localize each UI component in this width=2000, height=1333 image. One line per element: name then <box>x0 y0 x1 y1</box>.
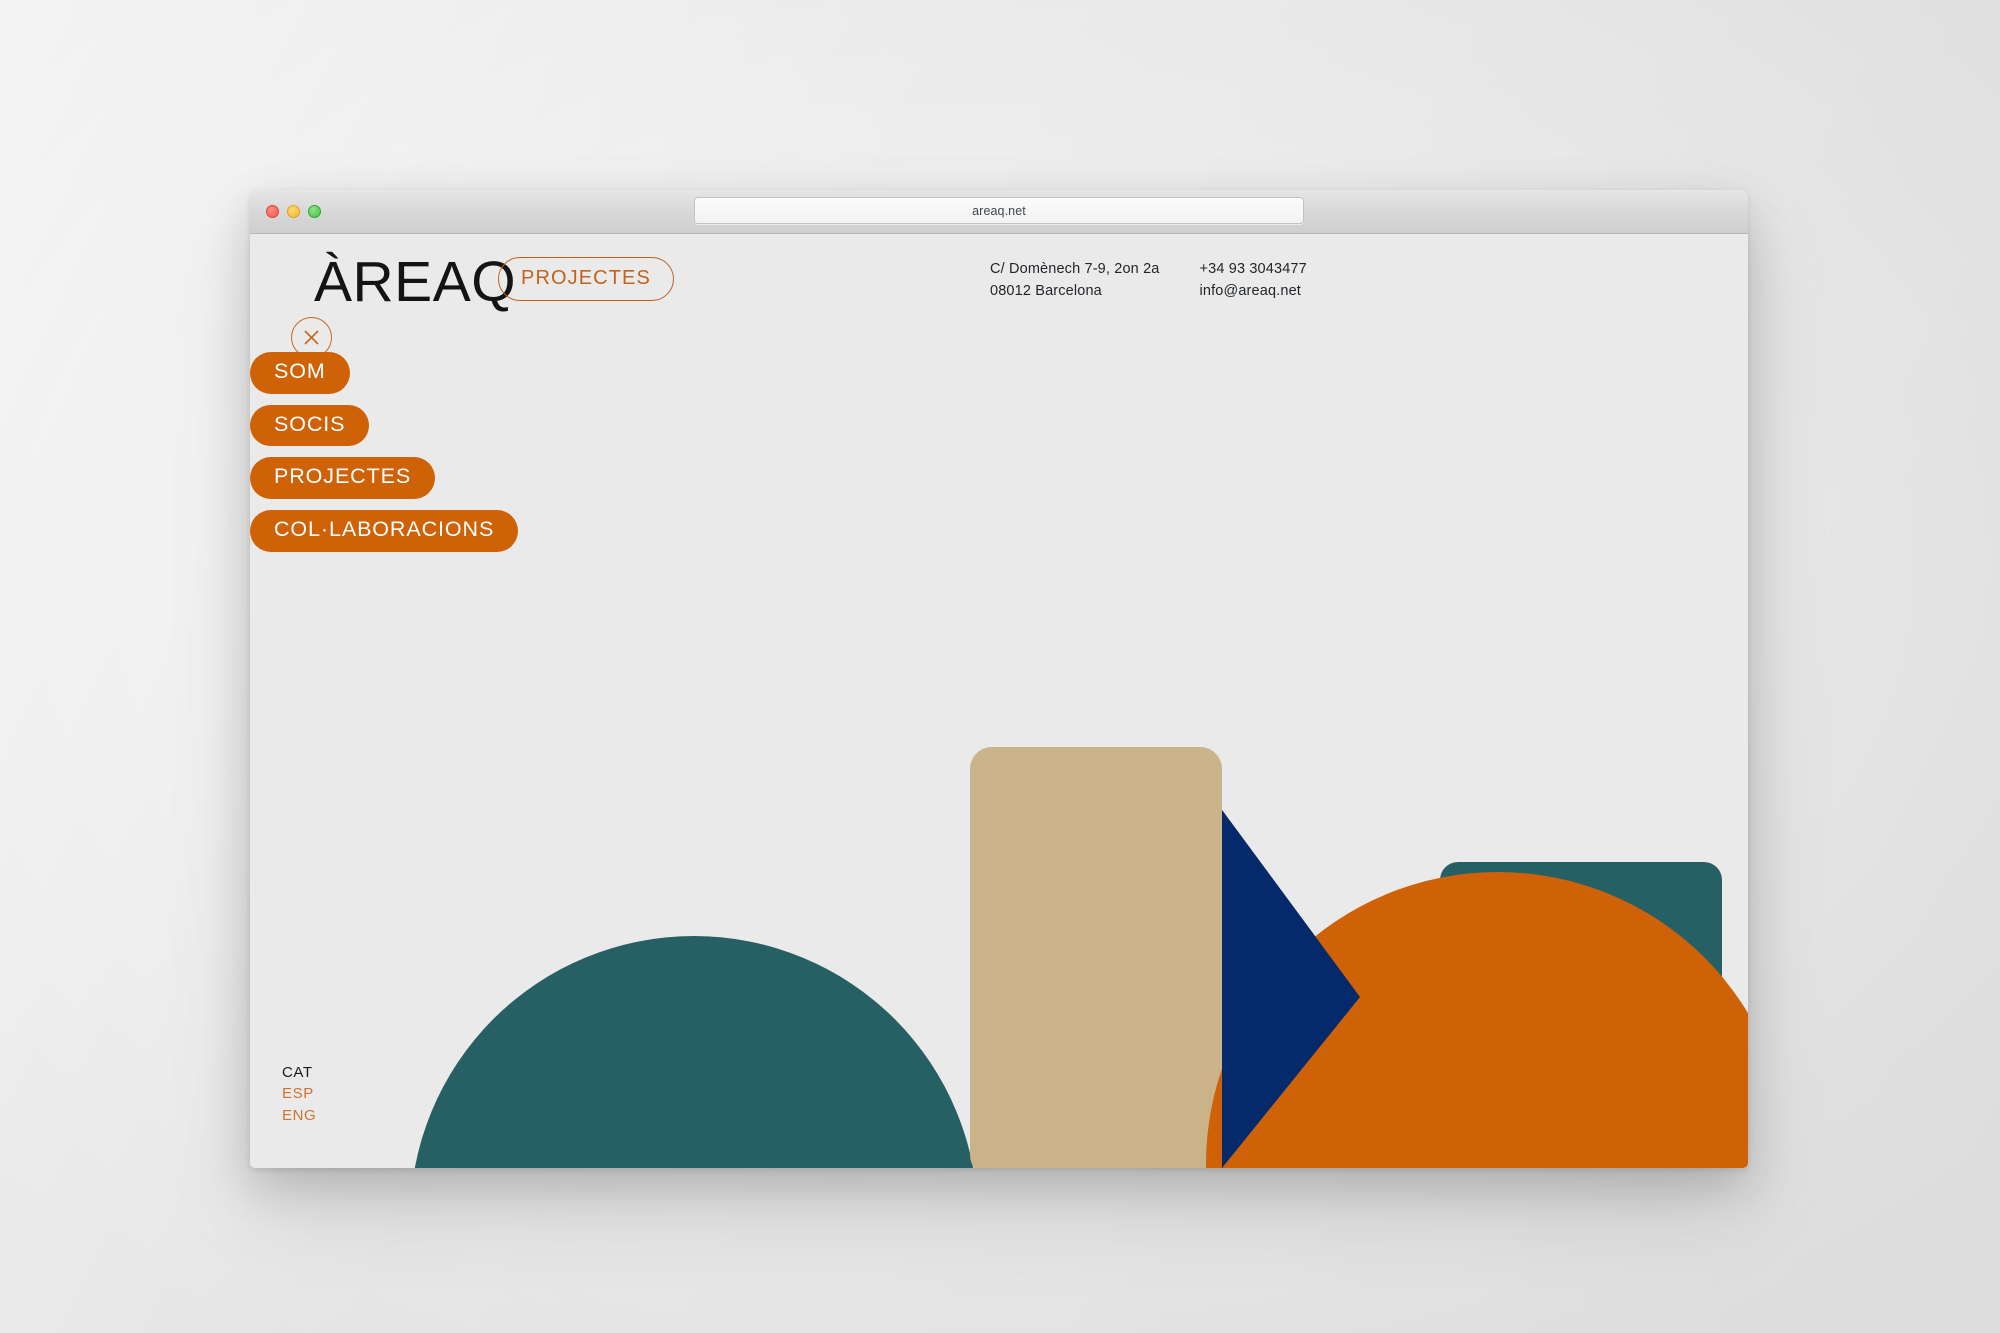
contact-channels: +34 93 3043477 info@areaq.net <box>1200 258 1307 303</box>
nav-item-som[interactable]: SOM <box>250 352 350 394</box>
language-option-esp[interactable]: ESP <box>282 1083 316 1104</box>
address-bar-url: areaq.net <box>972 204 1026 218</box>
teal-circle-shape <box>410 936 978 1168</box>
page-viewport: ÀREAQ PROJECTES C/ Domènech 7-9, 2on 2a … <box>250 234 1748 1168</box>
contact-phone[interactable]: +34 93 3043477 <box>1200 258 1307 280</box>
browser-window: areaq.net ÀREAQ PROJE <box>250 190 1748 1168</box>
header-section-tag[interactable]: PROJECTES <box>498 257 674 301</box>
address-bar[interactable]: areaq.net <box>694 197 1304 224</box>
minimize-window-button[interactable] <box>287 205 300 218</box>
close-window-button[interactable] <box>266 205 279 218</box>
main-navigation: SOM SOCIS PROJECTES COL·LABORACIONS <box>250 352 518 552</box>
nav-item-projectes[interactable]: PROJECTES <box>250 457 435 499</box>
nav-item-socis[interactable]: SOCIS <box>250 405 369 447</box>
site-header: ÀREAQ PROJECTES C/ Domènech 7-9, 2on 2a … <box>250 234 1748 354</box>
contact-info: C/ Domènech 7-9, 2on 2a 08012 Barcelona … <box>990 258 1307 303</box>
page-title: ÀREAQ <box>314 254 516 311</box>
zoom-window-button[interactable] <box>308 205 321 218</box>
contact-email[interactable]: info@areaq.net <box>1200 280 1307 302</box>
language-switcher: CAT ESP ENG <box>282 1062 316 1126</box>
address-line-1: C/ Domènech 7-9, 2on 2a <box>990 258 1160 280</box>
tan-rounded-rect-shape <box>970 747 1222 1168</box>
nav-item-collaboracions[interactable]: COL·LABORACIONS <box>250 510 518 552</box>
contact-address: C/ Domènech 7-9, 2on 2a 08012 Barcelona <box>990 258 1160 303</box>
window-controls[interactable] <box>266 205 321 218</box>
browser-titlebar: areaq.net <box>250 190 1748 234</box>
language-option-eng[interactable]: ENG <box>282 1105 316 1126</box>
language-option-cat[interactable]: CAT <box>282 1062 316 1083</box>
address-line-2: 08012 Barcelona <box>990 280 1160 302</box>
